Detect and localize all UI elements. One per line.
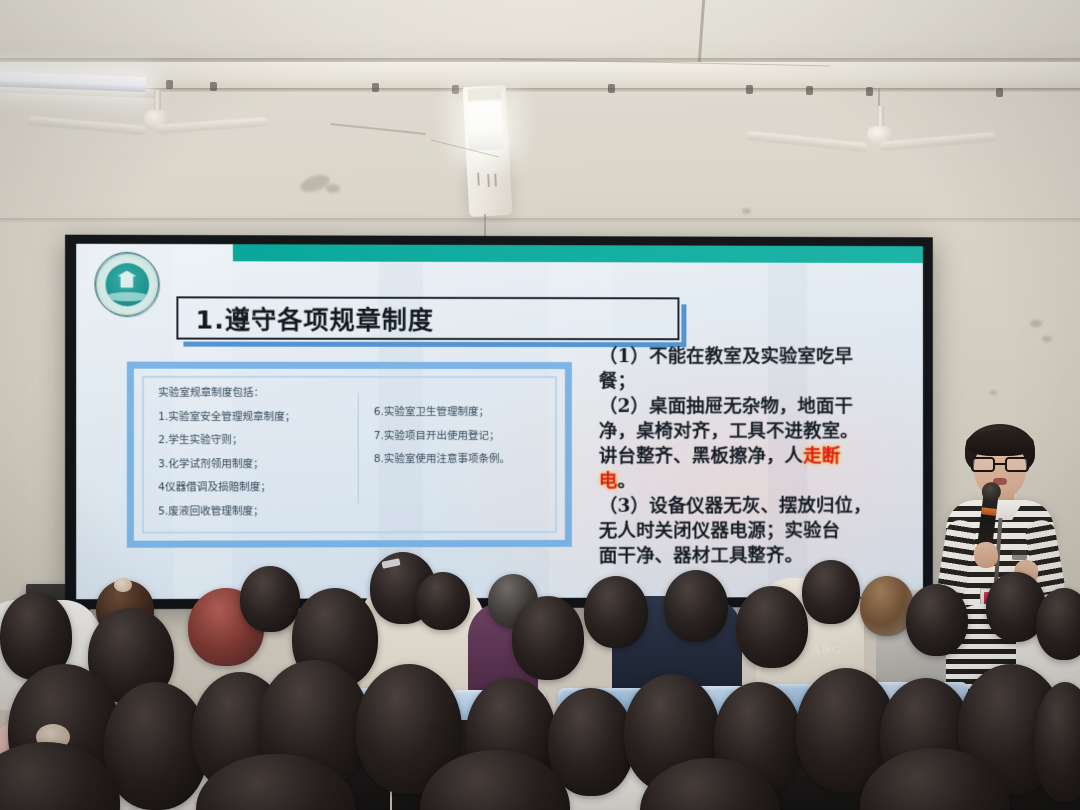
- audience-head: [584, 576, 648, 648]
- projector-cap: [468, 87, 502, 101]
- panel-right-column: 6.实验室卫生管理制度； 7.实验项目开出使用登记； 8.实验室使用注意事项条例…: [374, 407, 510, 478]
- audience-head: [802, 560, 860, 624]
- slide-teal-bar: [233, 244, 923, 263]
- panel-heading: 实验室规章制度包括：: [158, 388, 295, 399]
- wall-shadow-line: [0, 218, 1080, 223]
- audience-head: [664, 570, 728, 642]
- ceiling-mount-dot: [806, 86, 813, 95]
- highlight-text-tail: 电: [599, 471, 618, 492]
- ceiling-mount-dot: [866, 87, 873, 96]
- projector-vent: [487, 174, 490, 187]
- panel-column-divider: [358, 393, 359, 503]
- audience-head: [906, 584, 968, 656]
- audience-area: ANG VAM FAG: [0, 492, 1080, 810]
- slide-title-box: 1.遵守各项规章制度: [176, 296, 679, 340]
- wall-stain: [1042, 336, 1052, 342]
- ceiling-mount-dot: [166, 80, 173, 89]
- university-seal-logo: [94, 252, 159, 317]
- page-title: 1.遵守各项规章制度: [178, 300, 433, 337]
- wall-stain: [990, 390, 997, 395]
- rule-line: （2）桌面抽屉无杂物，地面干: [599, 395, 923, 419]
- rule-line-tail: 。: [617, 471, 636, 492]
- list-item: 7.实验项目开出使用登记；: [374, 430, 510, 441]
- ceiling-soffit: [0, 0, 1080, 62]
- glasses-lens-left: [971, 457, 995, 472]
- audience-head: [736, 586, 808, 668]
- highlight-text: 走断: [803, 446, 840, 467]
- seal-emblem: [105, 262, 149, 305]
- glasses-bridge: [995, 463, 1005, 465]
- ceiling-fan-right: [804, 106, 956, 154]
- ceiling-mount-dot: [372, 83, 379, 92]
- audience-head: [512, 596, 584, 680]
- rule-line: 净，桌椅对齐，工具不进教室。: [599, 420, 923, 444]
- ceiling-mount-dot: [996, 88, 1003, 97]
- eyeglasses-icon: [971, 457, 1029, 472]
- projector-lamp-glow: [466, 101, 503, 151]
- fan-rod: [877, 106, 884, 128]
- audience-head: [240, 566, 300, 632]
- title-box-shadow-right: [681, 304, 686, 347]
- projector-vent: [477, 172, 480, 185]
- ceiling-mount-dot: [452, 85, 459, 94]
- fan-rod: [154, 90, 161, 112]
- presenter-fringe: [966, 430, 1034, 456]
- rule-line-text: 讲台整齐、黑板擦净，人: [599, 446, 803, 467]
- wall-stain: [742, 208, 751, 214]
- rule-line: （1）不能在教室及实验室吃早: [599, 345, 923, 369]
- ceiling-mount-dot: [608, 84, 615, 93]
- rule-line: 餐；: [599, 370, 923, 394]
- rule-line-highlighted: 讲台整齐、黑板擦净，人走断: [599, 445, 923, 469]
- lecture-hall-photo: 1.遵守各项规章制度 实验室规章制度包括： 1.实验室安全管理规章制度； 2.学…: [0, 0, 1080, 810]
- audience-head: [416, 572, 470, 630]
- hair-tie: [114, 578, 132, 592]
- wall-stain: [1030, 320, 1042, 327]
- list-item: 3.化学试剂领用制度；: [158, 459, 295, 470]
- glasses-lens-right: [1005, 457, 1029, 472]
- list-item: 6.实验室卫生管理制度；: [374, 407, 510, 418]
- shirt-text: ANG: [812, 644, 842, 656]
- list-item: 1.实验室安全管理规章制度；: [158, 411, 295, 422]
- list-item: 2.学生实验守则；: [158, 435, 295, 446]
- audience-head: [1036, 588, 1080, 660]
- list-item: 8.实验室使用注意事项条例。: [374, 454, 510, 465]
- projector-vent: [494, 174, 497, 187]
- rule-line-highlighted-tail: 电。: [599, 470, 923, 494]
- ceiling-mount-dot: [746, 85, 753, 94]
- ceiling-fan-left: [82, 90, 232, 136]
- wall-projector-lamp: [463, 85, 513, 217]
- wall-stain: [326, 184, 340, 193]
